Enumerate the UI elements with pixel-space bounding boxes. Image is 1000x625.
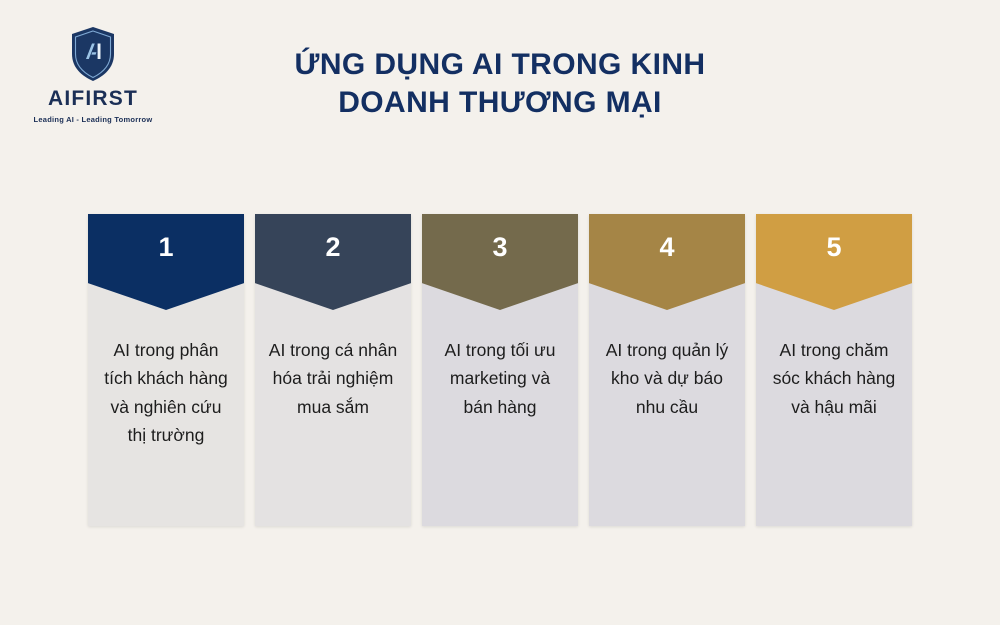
brand-wordmark: AIFIRST — [18, 88, 168, 109]
step-card-2[interactable]: 2 AI trong cá nhân hóa trải nghiệm mua s… — [255, 214, 411, 526]
brand-tagline: Leading AI - Leading Tomorrow — [18, 116, 168, 124]
steps-row: 1 AI trong phân tích khách hàng và nghiê… — [88, 214, 912, 526]
step-card-4[interactable]: 4 AI trong quản lý kho và dự báo nhu cầu — [589, 214, 745, 526]
step-label-1: AI trong phân tích khách hàng và nghiên … — [88, 336, 244, 449]
step-number-3: 3 — [492, 234, 507, 261]
page-title-line-1: ỨNG DỤNG AI TRONG KINH — [240, 46, 760, 84]
step-number-5: 5 — [826, 234, 841, 261]
step-label-3: AI trong tối ưu marketing và bán hàng — [422, 336, 578, 421]
step-card-1[interactable]: 1 AI trong phân tích khách hàng và nghiê… — [88, 214, 244, 526]
step-number-2: 2 — [325, 234, 340, 261]
brand-logo: AIFIRST Leading AI - Leading Tomorrow — [18, 26, 168, 124]
step-card-5[interactable]: 5 AI trong chăm sóc khách hàng và hậu mã… — [756, 214, 912, 526]
step-number-1: 1 — [158, 234, 173, 261]
page-title: ỨNG DỤNG AI TRONG KINH DOANH THƯƠNG MẠI — [240, 46, 760, 123]
step-card-3[interactable]: 3 AI trong tối ưu marketing và bán hàng — [422, 214, 578, 526]
step-label-5: AI trong chăm sóc khách hàng và hậu mãi — [756, 336, 912, 421]
step-label-4: AI trong quản lý kho và dự báo nhu cầu — [589, 336, 745, 421]
step-number-4: 4 — [659, 234, 674, 261]
step-label-2: AI trong cá nhân hóa trải nghiệm mua sắm — [255, 336, 411, 421]
page-title-line-2: DOANH THƯƠNG MẠI — [240, 84, 760, 122]
shield-ai-icon — [69, 26, 117, 82]
